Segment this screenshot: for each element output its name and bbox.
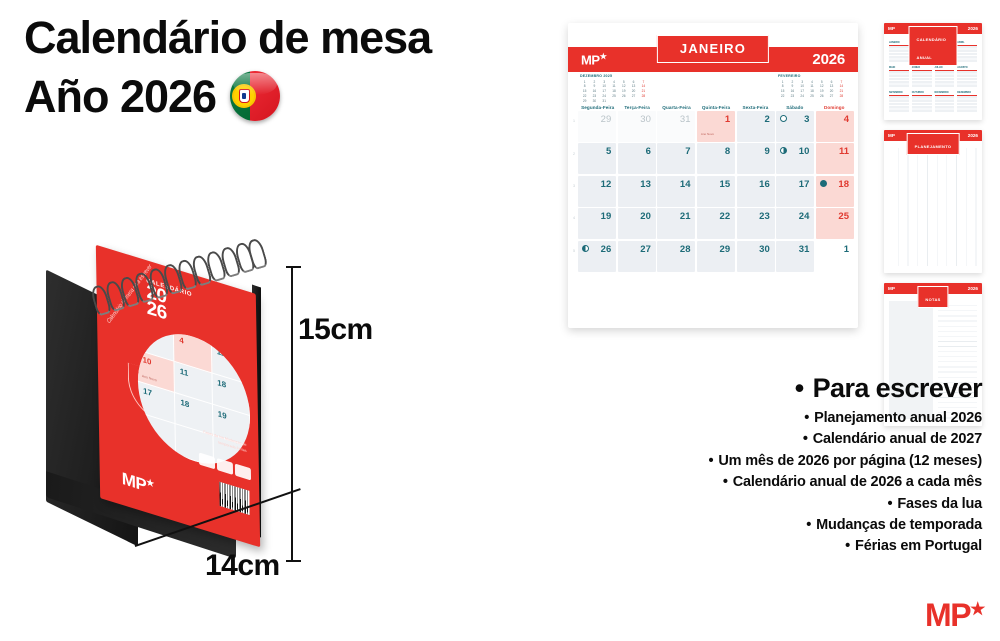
mini-calendars-row: DEZEMBRO 2025 12345678910111213141516171… <box>568 72 858 105</box>
week-number: 5 <box>570 235 578 267</box>
mini-day: 7 <box>639 80 648 84</box>
feature-item: •Fases da lua <box>642 494 982 515</box>
calendar-day-cell[interactable]: 25 <box>816 208 854 239</box>
calendar-day-cell[interactable]: 22 <box>697 208 735 239</box>
feature-item: •Mudanças de temporada <box>642 515 982 536</box>
mini-day: 15 <box>778 89 787 93</box>
calendar-day-cell[interactable]: 29 <box>578 111 616 142</box>
calendar-day-cell[interactable]: 18 <box>816 176 854 207</box>
thumbnail-month-name: MAIO <box>889 66 909 69</box>
calendar-day-cell[interactable]: 23 <box>737 208 775 239</box>
mini-day: 3 <box>798 80 807 84</box>
thumbnail-year: 2026 <box>968 26 978 31</box>
thumbnail-month-block: AGOSTO <box>957 66 977 88</box>
day-number: 23 <box>759 211 770 222</box>
mini-day: 12 <box>619 84 628 88</box>
mini-day: 30 <box>590 99 599 103</box>
mini-day: 22 <box>778 94 787 98</box>
calendar-day-cell[interactable]: 3 <box>776 111 814 142</box>
mini-day: 5 <box>817 80 826 84</box>
mini-day: 24 <box>798 94 807 98</box>
calendar-day-cell[interactable]: 9 <box>737 143 775 174</box>
mini-calendar-grid: 1234567891011121314151617181920212223242… <box>580 80 648 104</box>
thumbnail-header-band: MP PLANEJAMENTO 2026 <box>884 130 982 141</box>
day-number: 31 <box>799 244 810 255</box>
mini-day: 21 <box>639 89 648 93</box>
day-number: 14 <box>680 179 691 190</box>
thumbnail-month-block: JUNHO <box>912 66 932 88</box>
day-number: 29 <box>601 114 612 125</box>
mini-day: 6 <box>629 80 638 84</box>
weekday-header: Sexta-Feira <box>736 105 775 110</box>
thumbnail-title-badge: CALENDÁRIO ANUAL <box>909 26 958 66</box>
bullet-icon: • <box>803 431 808 447</box>
day-number: 21 <box>680 211 691 222</box>
marketing-sheet: Calendário de mesa Año 2026 CALENDÁRIO 2… <box>0 0 1000 641</box>
day-number: 5 <box>606 146 611 157</box>
day-number: 22 <box>720 211 731 222</box>
feature-item: •Férias em Portugal <box>642 536 982 557</box>
weekday-header: Domingo <box>815 105 854 110</box>
mini-day: 2 <box>788 80 797 84</box>
thumbnail-brand: MP <box>888 133 895 138</box>
day-number: 6 <box>646 146 651 157</box>
feature-item-label: Um mês de 2026 por página (12 meses) <box>718 453 982 469</box>
mini-day: 24 <box>600 94 609 98</box>
mini-day: 23 <box>788 94 797 98</box>
thumbnail-month-days <box>935 70 955 88</box>
mini-day: 26 <box>817 94 826 98</box>
mini-day: 29 <box>580 99 589 103</box>
thumbnail-header-band: MP NOTAS 2026 <box>884 283 982 294</box>
cover-circle-calendar: 5 4 12 10Ano Novo 11 18 17 18 19 <box>137 319 251 478</box>
thumbnail-month-name: AGOSTO <box>957 66 977 69</box>
day-number: 3 <box>804 114 809 125</box>
mini-day: 5 <box>619 80 628 84</box>
thumbnail-title-badge: PLANEJAMENTO <box>907 133 960 155</box>
feature-item-label: Calendário anual de 2027 <box>813 431 982 447</box>
mini-day: 7 <box>837 80 846 84</box>
calendar-day-cell[interactable]: 1 <box>816 241 854 272</box>
feature-item-label: Fases da lua <box>897 496 982 512</box>
thumbnail-month-days <box>957 70 977 88</box>
thumbnail-brand: MP <box>888 286 895 291</box>
feature-item-label: Calendário anual de 2026 a cada mês <box>733 474 982 490</box>
day-number: 26 <box>601 244 612 255</box>
day-number: 11 <box>839 146 849 157</box>
calendar-day-cell[interactable]: 31 <box>776 241 814 272</box>
mini-day: 11 <box>807 84 816 88</box>
features-block: •Para escrever •Planejamento anual 2026•… <box>602 374 982 574</box>
thumbnail-month-name: JANEIRO <box>889 41 909 44</box>
calendar-day-cell[interactable]: 11 <box>816 143 854 174</box>
thumbnail-month-block: MAIO <box>889 66 909 88</box>
mini-calendar-title: FEVEREIRO <box>778 74 846 78</box>
calendar-day-cell[interactable]: 4 <box>816 111 854 142</box>
day-number: 27 <box>640 244 651 255</box>
day-number: 12 <box>601 179 612 190</box>
day-event-label: Ano Novo <box>701 133 732 137</box>
moon-phase-full-icon <box>820 180 827 187</box>
calendar-week-row: 19202122232425 <box>578 208 854 239</box>
calendar-day-cell[interactable]: 13 <box>618 176 656 207</box>
day-number: 31 <box>680 114 691 125</box>
calendar-day-cell[interactable]: 10 <box>776 143 814 174</box>
calendar-day-cell[interactable]: 15 <box>697 176 735 207</box>
mini-day: 28 <box>639 94 648 98</box>
calendar-year: 2026 <box>812 51 845 68</box>
bullet-icon: • <box>723 474 728 490</box>
calendar-preview-panel: MP★ 2026 JANEIRO DEZEMBRO 2025 123456789… <box>568 23 858 328</box>
mini-day: 8 <box>778 84 787 88</box>
day-number: 24 <box>799 211 810 222</box>
mini-day: 2 <box>590 80 599 84</box>
day-number: 18 <box>838 179 849 190</box>
thumbnail-month-days <box>912 95 932 113</box>
mini-day: 19 <box>619 89 628 93</box>
mini-day: 20 <box>827 89 836 93</box>
day-number: 28 <box>680 244 691 255</box>
week-number-column: 12345 <box>570 105 578 267</box>
mini-day: 15 <box>580 89 589 93</box>
calendar-day-cell[interactable]: 30 <box>737 241 775 272</box>
day-number: 8 <box>725 146 730 157</box>
dimension-height-label: 15cm <box>298 313 373 347</box>
headline-line-2: Año 2026 <box>24 73 216 120</box>
day-number: 29 <box>720 244 731 255</box>
thumbnail-month-days <box>889 70 909 88</box>
mini-day: 20 <box>629 89 638 93</box>
feature-item: •Um mês de 2026 por página (12 meses) <box>642 451 982 472</box>
mini-calendar-next: FEVEREIRO 123456789101112131415161718192… <box>778 74 846 98</box>
feature-item: •Calendário anual de 2026 a cada mês <box>642 472 982 493</box>
weekday-header: Terça-Feira <box>617 105 656 110</box>
calendar-day-cell[interactable]: 1Ano Novo <box>697 111 735 142</box>
brand-name: MP <box>925 597 970 633</box>
day-number: 9 <box>764 146 769 157</box>
brand-star-icon: ★ <box>970 599 984 618</box>
weekday-header-row: Segunda-FeiraTerça-FeiraQuarta-FeiraQuin… <box>578 105 854 110</box>
mini-day: 16 <box>590 89 599 93</box>
thumbnail-header-band: MP CALENDÁRIO ANUAL 2026 <box>884 23 982 34</box>
mini-day: 14 <box>837 84 846 88</box>
thumbnail-annual-overview[interactable]: MP CALENDÁRIO ANUAL 2026 JANEIROFEVEREIR… <box>884 23 982 120</box>
calendar-week-row: 567891011 <box>578 143 854 174</box>
mini-day: 4 <box>609 80 618 84</box>
calendar-day-cell[interactable]: 6 <box>618 143 656 174</box>
thumbnail-month-name: ABRIL <box>957 41 977 44</box>
day-number: 13 <box>640 179 651 190</box>
mini-day: 25 <box>807 94 816 98</box>
mini-day: 26 <box>619 94 628 98</box>
mini-day: 14 <box>639 84 648 88</box>
weekday-header: Quinta-Feira <box>696 105 735 110</box>
mini-day: 13 <box>629 84 638 88</box>
thumbnail-brand: MP <box>888 26 895 31</box>
mini-day: 18 <box>609 89 618 93</box>
calendar-day-cell[interactable]: 30 <box>618 111 656 142</box>
mini-day: 1 <box>778 80 787 84</box>
cover-brand-logo: MP★ <box>122 469 154 499</box>
thumbnail-month-days <box>957 95 977 113</box>
calendar-day-cell[interactable]: 29 <box>697 241 735 272</box>
thumbnail-title-badge: NOTAS <box>917 286 948 308</box>
portugal-flag-icon <box>230 71 280 121</box>
mini-day: 3 <box>600 80 609 84</box>
calendar-brand-logo: MP★ <box>581 52 606 67</box>
bullet-icon: • <box>887 496 892 512</box>
calendar-month-label: JANEIRO <box>680 41 746 56</box>
day-number: 17 <box>799 179 810 190</box>
thumbnail-month-block: DEZEMBRO <box>957 91 977 113</box>
calendar-week-rows: 2930311Ano Novo2345678910111213141516171… <box>578 111 854 273</box>
mini-day: 18 <box>807 89 816 93</box>
calendar-day-cell[interactable]: 7 <box>657 143 695 174</box>
thumbnail-month-block: OUTUBRO <box>912 91 932 113</box>
mini-day: 16 <box>788 89 797 93</box>
thumbnail-month-block: SETEMBRO <box>889 91 909 113</box>
thumbnail-month-name: OUTUBRO <box>912 91 932 94</box>
moon-phase-first-icon <box>780 147 787 154</box>
day-number: 20 <box>640 211 651 222</box>
thumbnail-month-days <box>889 95 909 113</box>
thumbnail-month-days <box>957 45 977 63</box>
mini-day: 25 <box>609 94 618 98</box>
mini-day: 12 <box>817 84 826 88</box>
thumbnail-month-name: JUNHO <box>912 66 932 69</box>
thumbnail-month-name: NOVEMBRO <box>935 91 955 94</box>
features-title: •Para escrever <box>602 374 982 404</box>
headline-block: Calendário de mesa Año 2026 <box>24 14 544 121</box>
calendar-day-cell[interactable]: 8 <box>697 143 735 174</box>
bullet-icon: • <box>795 373 804 403</box>
mini-day: 10 <box>798 84 807 88</box>
thumbnail-month-days <box>935 95 955 113</box>
day-number: 19 <box>601 211 612 222</box>
weekday-header: Segunda-Feira <box>578 105 617 110</box>
headline-line-1: Calendário de mesa <box>24 14 544 61</box>
day-number: 2 <box>764 114 769 125</box>
thumbnail-month-name: DEZEMBRO <box>957 91 977 94</box>
calendar-grid: 12345 Segunda-FeiraTerça-FeiraQuarta-Fei… <box>568 105 858 273</box>
product-stage: CALENDÁRIO 20 26 Calendário de mesa para… <box>40 262 310 562</box>
mini-day: 28 <box>837 94 846 98</box>
dimension-line-height <box>291 266 293 562</box>
mini-day: 9 <box>590 84 599 88</box>
moon-phase-new-icon <box>780 115 787 122</box>
mini-day: 1 <box>580 80 589 84</box>
weekday-header: Quarta-Feira <box>657 105 696 110</box>
weekday-header: Sábado <box>775 105 814 110</box>
day-number: 25 <box>838 211 849 222</box>
calendar-day-cell[interactable]: 19 <box>578 208 616 239</box>
dimension-width-label: 14cm <box>205 549 280 583</box>
thumbnail-month-block: JULHO <box>935 66 955 88</box>
calendar-week-row: 12131415161718 <box>578 176 854 207</box>
week-number: 2 <box>570 137 578 169</box>
thumbnail-month-block: ABRIL <box>957 41 977 63</box>
moon-phase-last-icon <box>582 245 589 252</box>
day-number: 1 <box>844 244 849 255</box>
week-number: 3 <box>570 170 578 202</box>
mini-day: 9 <box>788 84 797 88</box>
mini-day: 22 <box>580 94 589 98</box>
bullet-icon: • <box>709 453 714 469</box>
bullet-icon: • <box>804 410 809 426</box>
product-photo: CALENDÁRIO 20 26 Calendário de mesa para… <box>40 262 310 562</box>
mini-day: 13 <box>827 84 836 88</box>
feature-item: •Planejamento anual 2026 <box>642 408 982 429</box>
calendar-day-cell[interactable]: 12 <box>578 176 616 207</box>
day-number: 30 <box>759 244 770 255</box>
calendar-day-cell[interactable]: 2 <box>737 111 775 142</box>
day-number: 30 <box>640 114 651 125</box>
day-number: 16 <box>759 179 770 190</box>
mini-day: 8 <box>580 84 589 88</box>
calendar-day-cell[interactable]: 31 <box>657 111 695 142</box>
day-number: 7 <box>685 146 690 157</box>
thumbnail-year: 2026 <box>968 286 978 291</box>
bullet-icon: • <box>845 538 850 554</box>
day-number: 1 <box>725 114 730 125</box>
calendar-month-badge: JANEIRO <box>657 35 769 63</box>
calendar-day-cell[interactable]: 26 <box>578 241 616 272</box>
bullet-icon: • <box>806 517 811 533</box>
features-list: •Planejamento anual 2026•Calendário anua… <box>602 408 982 558</box>
mini-calendar-grid: 1234567891011121314151617181920212223242… <box>778 80 846 99</box>
mini-calendar-title: DEZEMBRO 2025 <box>580 74 648 78</box>
calendar-day-cell[interactable]: 5 <box>578 143 616 174</box>
mini-day: 27 <box>629 94 638 98</box>
feature-item-label: Mudanças de temporada <box>816 517 982 533</box>
mini-day: 17 <box>798 89 807 93</box>
mini-day: 10 <box>600 84 609 88</box>
calendar-day-cell[interactable]: 17 <box>776 176 814 207</box>
calendar-day-cell[interactable]: 20 <box>618 208 656 239</box>
thumbnail-body <box>884 141 982 273</box>
thumbnail-month-days <box>889 45 909 63</box>
mini-day: 4 <box>807 80 816 84</box>
calendar-day-cell[interactable]: 16 <box>737 176 775 207</box>
thumbnail-year-planner[interactable]: MP PLANEJAMENTO 2026 <box>884 130 982 273</box>
feature-item-label: Planejamento anual 2026 <box>814 410 982 426</box>
mini-day: 6 <box>827 80 836 84</box>
mini-day: 19 <box>817 89 826 93</box>
calendar-day-cell[interactable]: 28 <box>657 241 695 272</box>
day-number: 15 <box>720 179 731 190</box>
thumbnail-month-name: SETEMBRO <box>889 91 909 94</box>
calendar-day-cell[interactable]: 27 <box>618 241 656 272</box>
mini-day: 17 <box>600 89 609 93</box>
feature-item-label: Férias em Portugal <box>855 538 982 554</box>
thumbnail-year: 2026 <box>968 133 978 138</box>
cover-circle-grid: 5 4 12 10Ano Novo 11 18 17 18 19 <box>137 319 251 478</box>
calendar-day-cell[interactable]: 24 <box>776 208 814 239</box>
mini-day: 31 <box>600 99 609 103</box>
brand-logo: MP★ <box>925 599 984 631</box>
mini-calendar-previous: DEZEMBRO 2025 12345678910111213141516171… <box>580 74 648 103</box>
week-number: 4 <box>570 202 578 234</box>
thumbnail-planner-grid <box>889 148 977 266</box>
mini-day: 11 <box>609 84 618 88</box>
mini-day: 23 <box>590 94 599 98</box>
week-number: 1 <box>570 105 578 137</box>
calendar-week-row: 2930311Ano Novo234 <box>578 111 854 142</box>
thumbnail-month-block: NOVEMBRO <box>935 91 955 113</box>
calendar-day-cell[interactable]: 21 <box>657 208 695 239</box>
day-number: 4 <box>844 114 849 125</box>
calendar-week-row: 2627282930311 <box>578 241 854 272</box>
feature-item: •Calendário anual de 2027 <box>642 429 982 450</box>
thumbnail-month-days <box>912 70 932 88</box>
mini-day: 27 <box>827 94 836 98</box>
mini-day: 21 <box>837 89 846 93</box>
calendar-day-cell[interactable]: 14 <box>657 176 695 207</box>
thumbnail-month-block: JANEIRO <box>889 41 909 63</box>
thumbnail-month-name: JULHO <box>935 66 955 69</box>
day-number: 10 <box>799 146 810 157</box>
